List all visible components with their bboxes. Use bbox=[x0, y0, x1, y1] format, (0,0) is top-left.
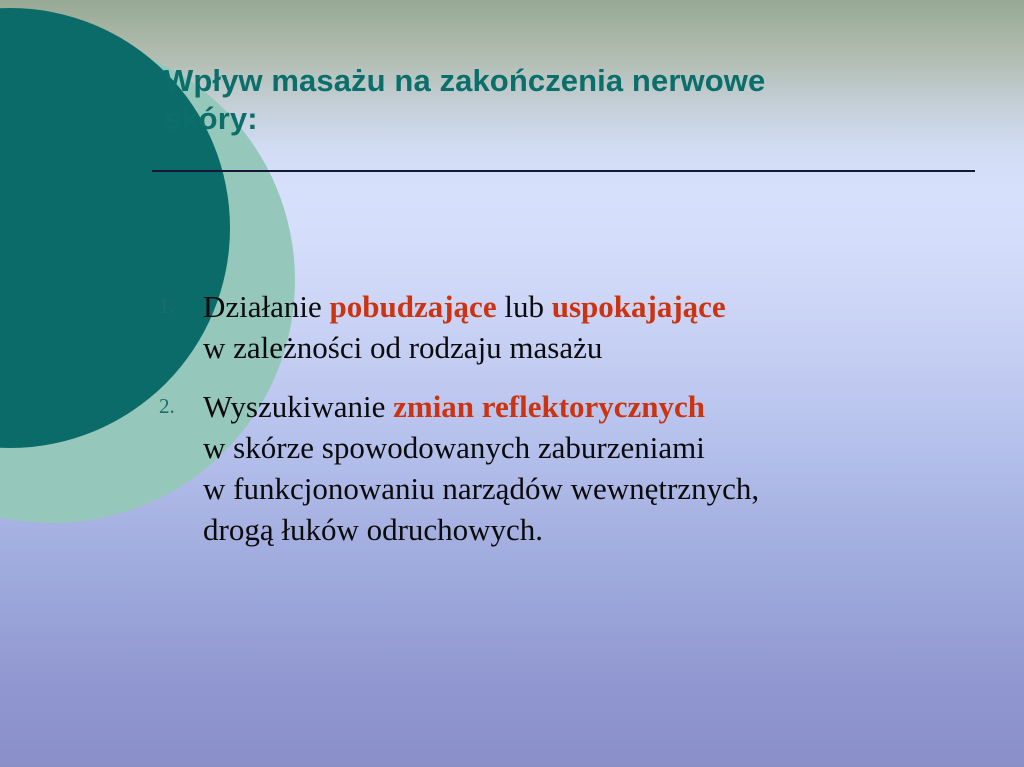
emphasis-run: uspokajające bbox=[552, 289, 726, 324]
slide-title: Wpływ masażu na zakończenia nerwowe skór… bbox=[164, 62, 984, 138]
list-item-marker: 2. bbox=[155, 386, 203, 427]
emphasis-run: pobudzające bbox=[330, 289, 497, 324]
list-item-text: Wyszukiwanie zmian reflektorycznych w sk… bbox=[203, 386, 985, 550]
emphasis-run: zmian reflektorycznych bbox=[393, 389, 705, 424]
slide-title-line-2: skóry: bbox=[164, 100, 984, 138]
list-item-line: w zależności od rodzaju masażu bbox=[203, 327, 985, 368]
slide-body-list: 1. Działanie pobudzające lub uspokajając… bbox=[155, 286, 985, 554]
list-item: 2. Wyszukiwanie zmian reflektorycznych w… bbox=[155, 386, 985, 550]
text-run: Działanie bbox=[203, 289, 330, 324]
text-run: Wyszukiwanie bbox=[203, 389, 393, 424]
presentation-slide: Wpływ masażu na zakończenia nerwowe skór… bbox=[0, 0, 1024, 767]
list-item-line: Wyszukiwanie zmian reflektorycznych bbox=[203, 386, 985, 427]
title-divider-rule bbox=[152, 170, 975, 172]
list-item-line: Działanie pobudzające lub uspokajające bbox=[203, 286, 985, 327]
list-item-marker: 1. bbox=[155, 286, 203, 327]
text-run: w funkcjonowaniu narządów wewnętrznych, bbox=[203, 471, 759, 506]
text-run: w zależności od rodzaju masażu bbox=[203, 330, 602, 365]
list-item-line: w funkcjonowaniu narządów wewnętrznych, bbox=[203, 468, 985, 509]
list-item-spacer bbox=[155, 372, 985, 386]
text-run: lub bbox=[497, 289, 552, 324]
slide-title-line-1: Wpływ masażu na zakończenia nerwowe bbox=[164, 62, 984, 100]
list-item: 1. Działanie pobudzające lub uspokajając… bbox=[155, 286, 985, 368]
text-run: w skórze spowodowanych zaburzeniami bbox=[203, 430, 705, 465]
list-item-line: drogą łuków odruchowych. bbox=[203, 509, 985, 550]
list-item-text: Działanie pobudzające lub uspokajające w… bbox=[203, 286, 985, 368]
text-run: drogą łuków odruchowych. bbox=[203, 512, 543, 547]
list-item-line: w skórze spowodowanych zaburzeniami bbox=[203, 427, 985, 468]
